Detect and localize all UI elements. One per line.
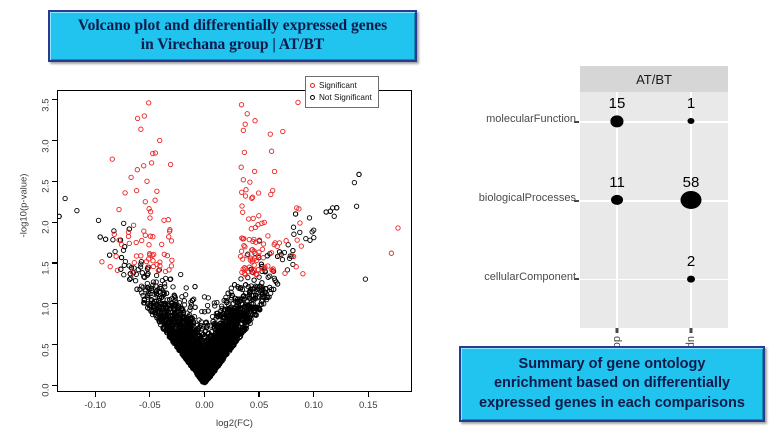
volcano-plot-figure: -log10(p-value) log2(FC) 0.00.51.01.52.0…	[0, 70, 440, 435]
legend-label-significant: Significant	[319, 80, 357, 92]
volcano-x-tick-label: 0.05	[237, 400, 281, 411]
volcano-x-tick-label: -0.05	[128, 400, 172, 411]
volcano-x-tick-label: 0.15	[346, 400, 390, 411]
dotplot-value-label: 1	[687, 95, 695, 112]
significant-marker-icon	[310, 83, 315, 88]
caption-banner: Summary of gene ontology enrichment base…	[459, 346, 765, 422]
volcano-y-tick-label: 2.0	[41, 221, 52, 259]
volcano-x-tick-label: 0.10	[292, 400, 336, 411]
dotplot-gridline-vertical	[690, 92, 692, 328]
volcano-x-tick-label: 0.00	[182, 400, 226, 411]
volcano-y-axis-label: -log10(p-value)	[19, 146, 30, 266]
volcano-y-tick-label: 2.5	[41, 180, 52, 218]
volcano-x-tick	[258, 392, 259, 397]
legend-item-not-significant: Not Significant	[310, 92, 372, 104]
not-significant-marker-icon	[310, 95, 315, 100]
dotplot-value-label: 58	[683, 174, 700, 191]
dotplot-dot[interactable]	[687, 275, 695, 282]
dotplot-row-label: molecularFunction	[486, 113, 576, 125]
legend-label-not-significant: Not Significant	[319, 92, 372, 104]
volcano-legend: Significant Not Significant	[305, 76, 379, 108]
volcano-points	[58, 91, 411, 391]
title-banner: Volcano plot and differentially expresse…	[48, 10, 417, 62]
dotplot-gridline-horizontal	[580, 121, 728, 123]
dotplot-gridline-horizontal	[580, 200, 728, 202]
volcano-y-tick-label: 0.5	[41, 343, 52, 381]
volcano-y-tick-label: 3.0	[41, 139, 52, 177]
dotplot-value-label: 2	[687, 253, 695, 270]
volcano-x-tick-label: -0.10	[73, 400, 117, 411]
volcano-x-tick	[368, 392, 369, 397]
caption-line-1: Summary of gene ontology	[479, 355, 745, 374]
dotplot-strip-header: AT/BT	[580, 66, 728, 92]
dotplot-value-label: 11	[609, 174, 625, 191]
volcano-x-tick	[95, 392, 96, 397]
dotplot-column-tick	[616, 328, 619, 333]
strip-label: AT/BT	[636, 72, 672, 87]
volcano-y-tick-label: 3.5	[41, 98, 52, 136]
volcano-x-tick	[313, 392, 314, 397]
legend-item-significant: Significant	[310, 80, 372, 92]
caption-line-3: expressed genes in each comparisons	[479, 394, 745, 413]
caption-line-2: enrichment based on differentially	[479, 374, 745, 393]
volcano-y-tick-label: 1.0	[41, 302, 52, 340]
dotplot-panel	[580, 92, 728, 328]
title-line-2: in Virechana group | AT/BT	[78, 36, 387, 55]
dotplot-gridline-horizontal	[580, 279, 728, 281]
volcano-plot-area	[57, 90, 412, 392]
dotplot-column-tick	[690, 328, 693, 333]
dotplot-gridline-vertical	[616, 92, 618, 328]
volcano-y-tick-label: 0.0	[41, 384, 52, 422]
volcano-y-tick-label: 1.5	[41, 262, 52, 300]
volcano-x-tick	[204, 392, 205, 397]
dotplot-row-label: biologicalProcesses	[479, 192, 576, 204]
title-line-1: Volcano plot and differentially expresse…	[78, 17, 387, 36]
go-enrichment-dotplot: AT/BT molecularFunctionbiologicalProcess…	[452, 62, 762, 322]
volcano-x-axis-label: log2(FC)	[57, 418, 412, 429]
dotplot-value-label: 15	[609, 95, 626, 112]
dotplot-row-label: cellularComponent	[484, 271, 576, 283]
dotplot-dot[interactable]	[681, 191, 702, 209]
volcano-x-tick	[149, 392, 150, 397]
